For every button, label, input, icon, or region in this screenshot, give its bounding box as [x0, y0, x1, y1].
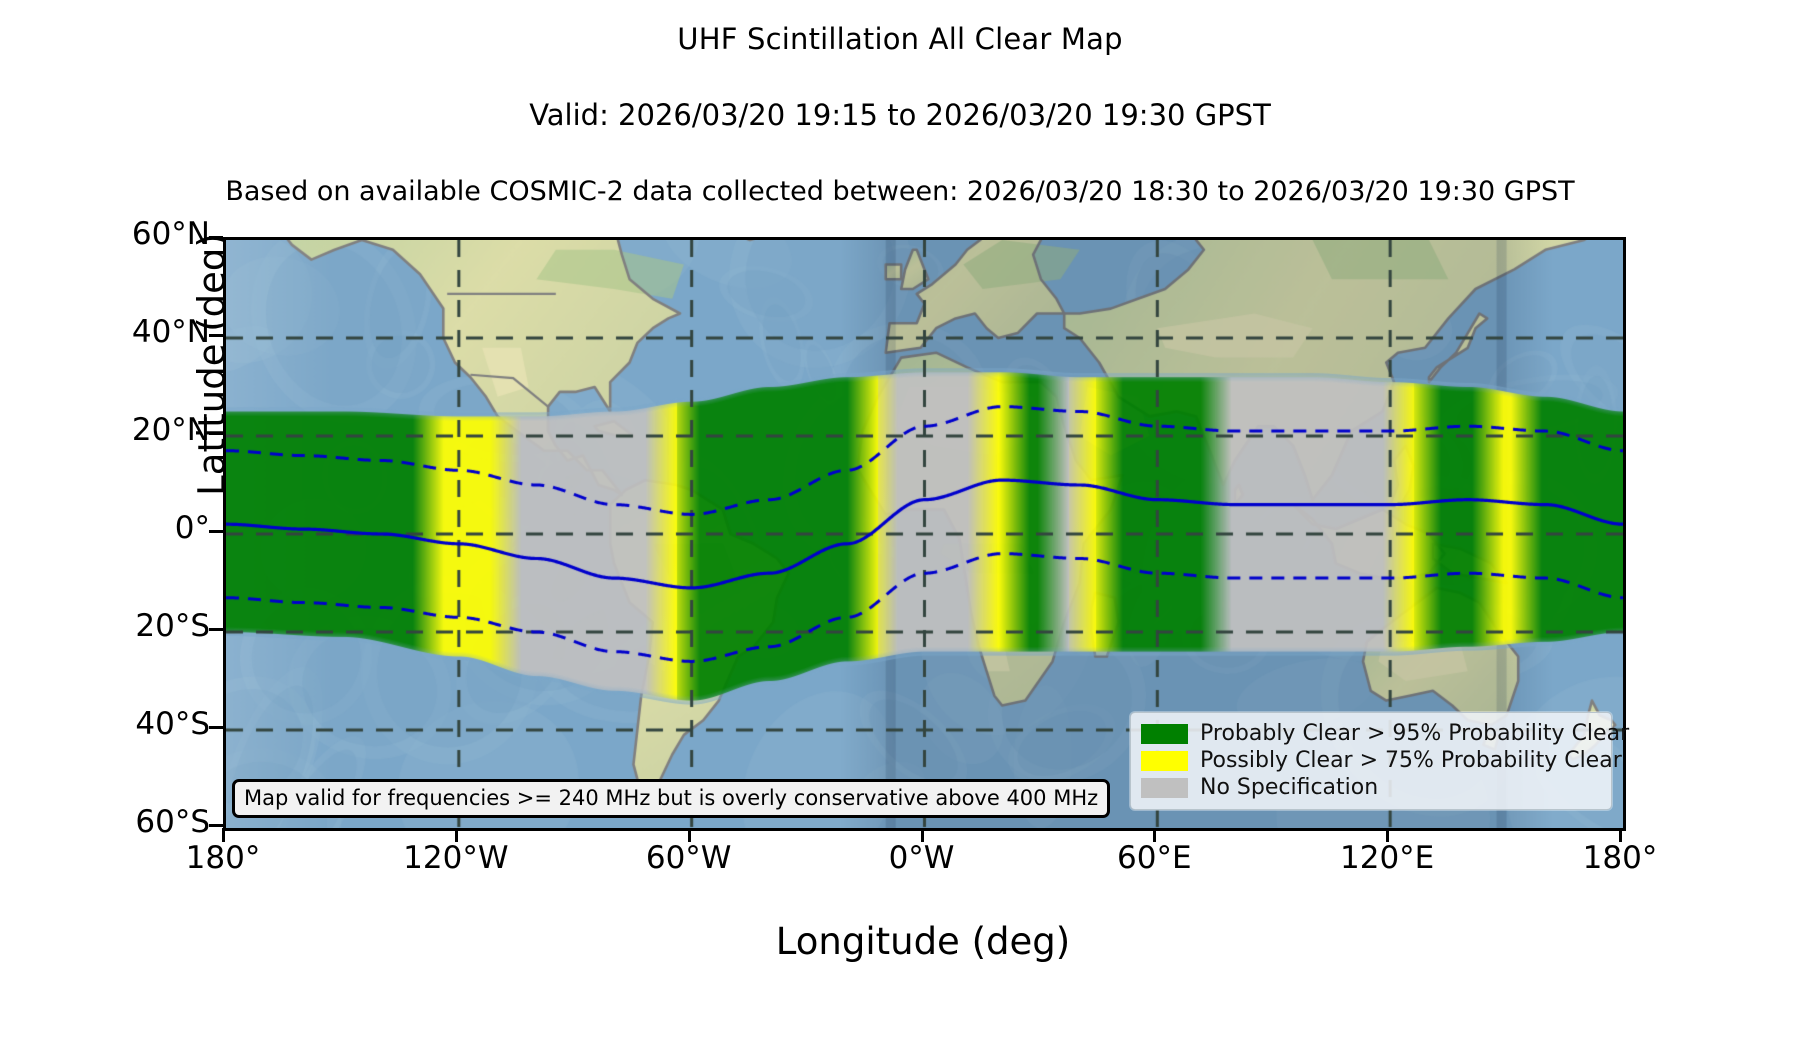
frequency-validity-note: Map valid for frequencies >= 240 MHz but…	[232, 779, 1110, 818]
y-tick-mark	[209, 236, 223, 239]
y-tick-label: 0°	[50, 510, 210, 546]
legend-label-no-specification: No Specification	[1200, 775, 1378, 800]
legend-swatch-probably-clear	[1141, 724, 1188, 744]
y-tick-label: 20°N	[50, 412, 210, 448]
legend-label-possibly-clear: Possibly Clear > 75% Probability Clear	[1200, 748, 1622, 773]
x-tick-label: 0°W	[822, 840, 1022, 876]
y-tick-mark	[209, 432, 223, 435]
page-title: UHF Scintillation All Clear Map	[0, 22, 1800, 56]
legend-label-probably-clear: Probably Clear > 95% Probability Clear	[1200, 721, 1629, 746]
y-tick-mark	[209, 726, 223, 729]
y-tick-label: 40°N	[50, 314, 210, 350]
legend-swatch-no-specification	[1141, 778, 1188, 798]
y-tick-label: 60°N	[50, 216, 210, 252]
y-tick-label: 40°S	[50, 706, 210, 742]
x-tick-label: 180°	[123, 840, 323, 876]
y-tick-mark	[209, 530, 223, 533]
data-source-subtitle: Based on available COSMIC-2 data collect…	[0, 176, 1800, 207]
x-tick-label: 120°W	[356, 840, 556, 876]
x-tick-label: 60°E	[1054, 840, 1254, 876]
y-tick-mark	[209, 334, 223, 337]
x-tick-label: 120°E	[1287, 840, 1487, 876]
y-tick-mark	[209, 628, 223, 631]
validity-subtitle: Valid: 2026/03/20 19:15 to 2026/03/20 19…	[0, 98, 1800, 132]
y-tick-label: 20°S	[50, 608, 210, 644]
y-tick-label: 60°S	[50, 804, 210, 840]
legend-item-probably-clear: Probably Clear > 95% Probability Clear	[1141, 720, 1601, 747]
y-tick-mark	[209, 824, 223, 827]
x-tick-label: 180°	[1520, 840, 1720, 876]
x-axis-label: Longitude (deg)	[223, 920, 1623, 963]
x-tick-label: 60°W	[589, 840, 789, 876]
legend-swatch-possibly-clear	[1141, 751, 1188, 771]
map-legend: Probably Clear > 95% Probability Clear P…	[1130, 712, 1612, 810]
legend-item-possibly-clear: Possibly Clear > 75% Probability Clear	[1141, 747, 1601, 774]
legend-item-no-specification: No Specification	[1141, 774, 1601, 801]
